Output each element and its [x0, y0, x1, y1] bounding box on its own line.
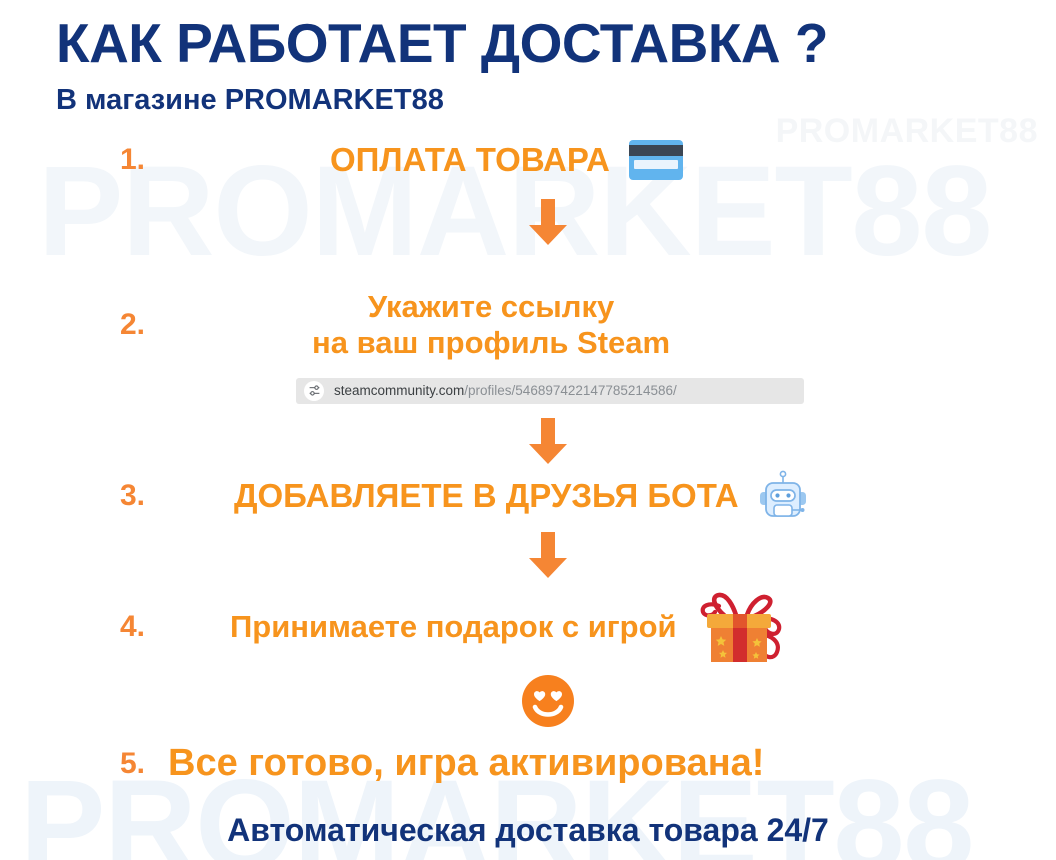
- site-settings-icon[interactable]: [304, 381, 324, 401]
- poster-header: КАК РАБОТАЕТ ДОСТАВКА ? В магазине PROMA…: [0, 0, 1056, 117]
- step-4-number: 4.: [0, 612, 212, 642]
- step-4-row: 4. Принимаете подарок с игрой: [0, 590, 1056, 664]
- step-4-body: Принимаете подарок с игрой: [230, 590, 791, 664]
- step-1-number: 1.: [0, 145, 212, 175]
- credit-card-icon: [628, 139, 684, 181]
- step-2-label: Укажите ссылку на ваш профиль Steam: [312, 289, 670, 360]
- step-3-number: 3.: [0, 481, 212, 511]
- arrow-1-wrap: [0, 199, 1056, 245]
- robot-icon: [757, 470, 809, 522]
- step-4-label: Принимаете подарок с игрой: [230, 609, 677, 644]
- gift-icon: [695, 590, 791, 664]
- page-title: КАК РАБОТАЕТ ДОСТАВКА ?: [0, 14, 1056, 73]
- url-domain: steamcommunity.com: [334, 384, 464, 398]
- step-1-row: 1. ОПЛАТА ТОВАРА: [0, 139, 1056, 181]
- steps-list: 1. ОПЛАТА ТОВАРА 2: [0, 139, 1056, 785]
- step-2-number: 2.: [0, 310, 212, 340]
- smiley-wrap: [0, 674, 1056, 728]
- url-bar-wrap: steamcommunity.com/profiles/546897422147…: [0, 378, 1056, 404]
- arrow-3-wrap: [0, 532, 1056, 578]
- step-1-label: ОПЛАТА ТОВАРА: [330, 141, 610, 179]
- step-5-row: 5. Все готово, игра активирована!: [0, 742, 1056, 785]
- step-5-body: Все готово, игра активирована!: [168, 742, 764, 785]
- step-3-body: ДОБАВЛЯЕТЕ В ДРУЗЬЯ БОТА: [234, 470, 809, 522]
- delivery-infographic-poster: PROMARKET88 PROMARKET88 PROMARKET88 КАК …: [0, 0, 1056, 860]
- step-5-label: Все готово, игра активирована!: [168, 742, 764, 785]
- smiling-face-with-hearts-icon: [521, 674, 575, 728]
- arrow-down-icon: [526, 532, 570, 578]
- browser-address-bar[interactable]: steamcommunity.com/profiles/546897422147…: [296, 378, 804, 404]
- arrow-2-wrap: [0, 418, 1056, 464]
- step-3-row: 3. ДОБАВЛЯЕТЕ В ДРУЗЬЯ БОТА: [0, 470, 1056, 522]
- step-3-label: ДОБАВЛЯЕТЕ В ДРУЗЬЯ БОТА: [234, 477, 739, 515]
- page-subtitle: В магазине PROMARKET88: [0, 85, 1056, 117]
- step-2-row: 2. Укажите ссылку на ваш профиль Steam: [0, 289, 1056, 360]
- poster-footer: Автоматическая доставка товара 24/7: [0, 813, 1056, 848]
- arrow-down-icon: [526, 199, 570, 245]
- url-text: steamcommunity.com/profiles/546897422147…: [334, 384, 677, 398]
- step-2-body: Укажите ссылку на ваш профиль Steam: [312, 289, 670, 360]
- step-1-body: ОПЛАТА ТОВАРА: [330, 139, 684, 181]
- url-path: /profiles/546897422147785214586/: [464, 384, 676, 398]
- arrow-down-icon: [526, 418, 570, 464]
- footer-text: Автоматическая доставка товара 24/7: [0, 813, 1056, 848]
- step-5-number: 5.: [0, 749, 168, 779]
